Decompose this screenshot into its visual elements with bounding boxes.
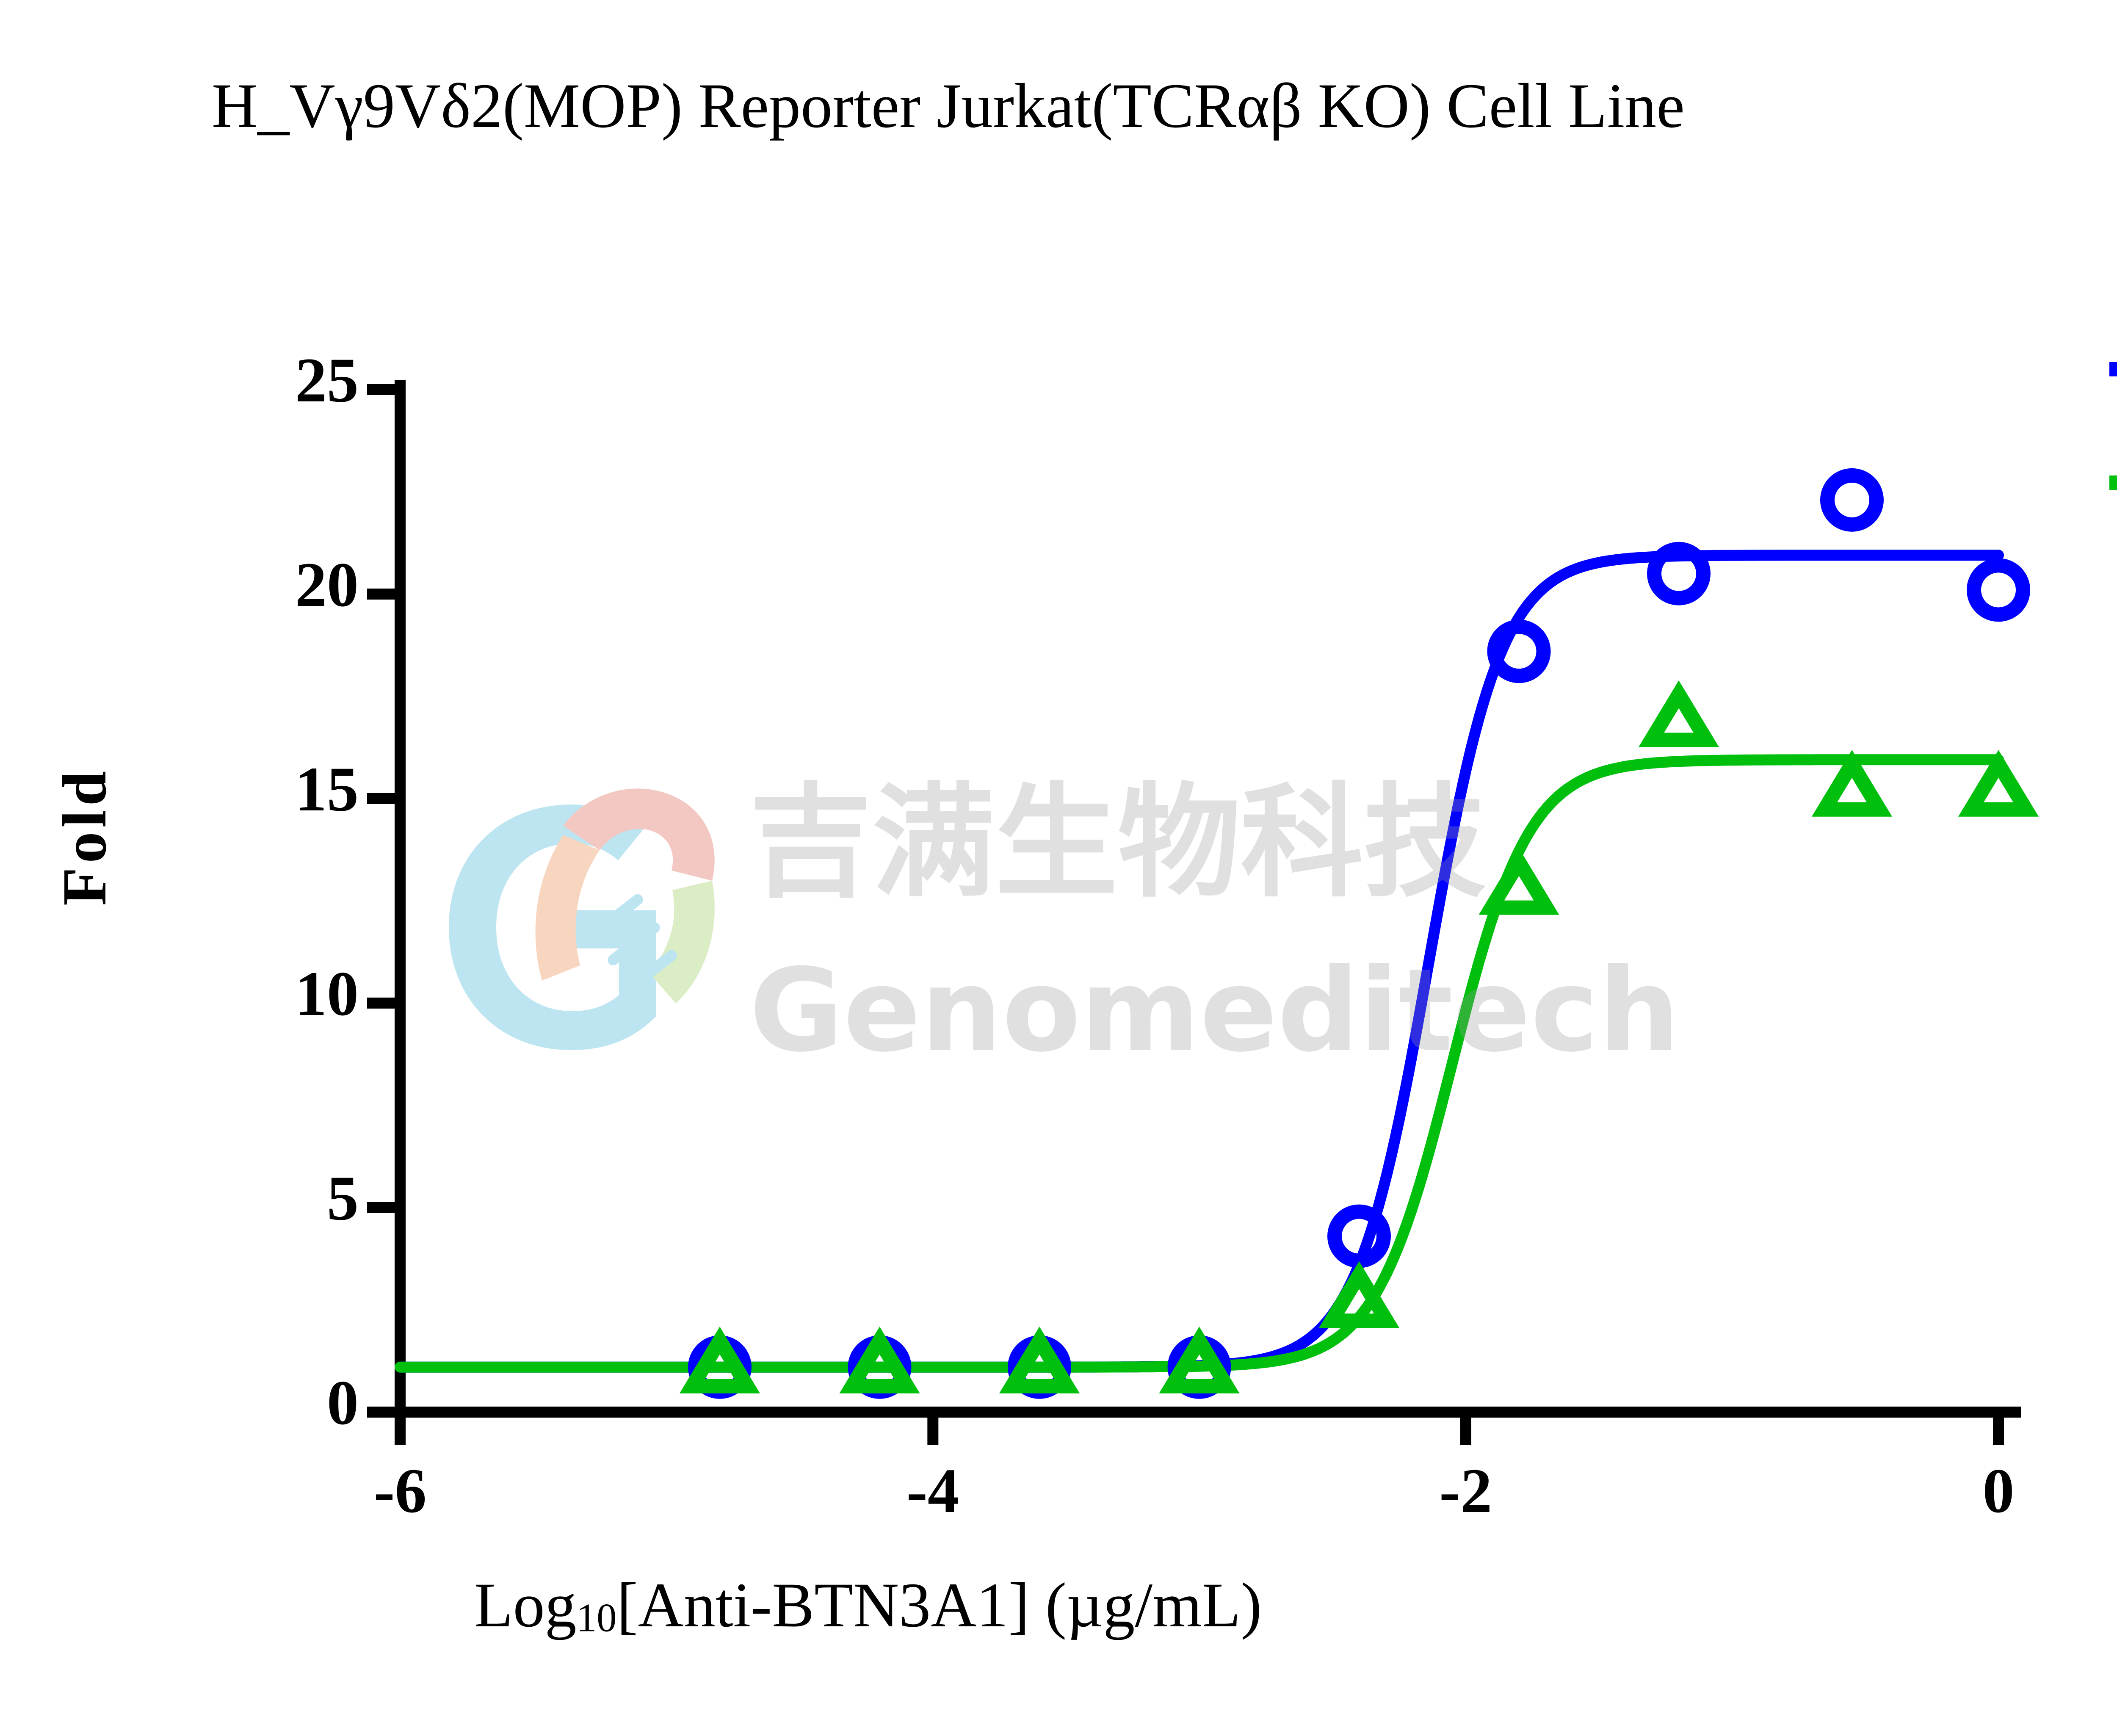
data-markers	[692, 475, 2026, 1392]
y-axis-label: Fold	[49, 718, 121, 955]
data-point-marker	[1971, 764, 2026, 810]
legend-circle-marker-icon	[2104, 327, 2117, 412]
data-point-marker	[1492, 862, 1547, 908]
y-tick-label: 10	[181, 957, 359, 1030]
legend-row[interactable]: CP130.008901	[1998, 436, 2117, 534]
x-axis-label: Log10[Anti-BTN3A1] (µg/mL)	[474, 1569, 1262, 1642]
y-tick-label: 20	[181, 548, 359, 621]
x-axis-label-prefix: Log	[474, 1570, 577, 1640]
y-tick-label: 0	[181, 1366, 359, 1439]
data-point-marker	[1824, 764, 1879, 810]
legend-triangle-marker-icon	[2104, 440, 2117, 525]
x-axis-label-subscript: 10	[577, 1595, 617, 1640]
data-point-marker	[1651, 694, 1706, 740]
fitted-curves	[400, 555, 1998, 1367]
y-tick-label: 5	[181, 1162, 359, 1235]
axes	[367, 385, 2015, 1445]
x-tick-label: -6	[315, 1454, 485, 1527]
data-point-marker	[1974, 565, 2023, 614]
legend: EC50 CP30.007285CP130.008901	[1998, 199, 2117, 550]
legend-row[interactable]: CP30.007285	[1998, 323, 2117, 420]
y-tick-label: 15	[181, 753, 359, 826]
x-tick-label: -2	[1381, 1454, 1550, 1527]
x-axis-label-suffix: [Anti-BTN3A1] (µg/mL)	[617, 1570, 1262, 1640]
x-tick-label: -4	[848, 1454, 1017, 1527]
y-tick-label: 25	[181, 344, 359, 417]
data-point-marker	[1827, 475, 1877, 525]
x-tick-label: 0	[1914, 1454, 2083, 1527]
chart-figure: H_Vγ9Vδ2(MOP) Reporter Jurkat(TCRαβ KO) …	[0, 0, 2117, 1736]
